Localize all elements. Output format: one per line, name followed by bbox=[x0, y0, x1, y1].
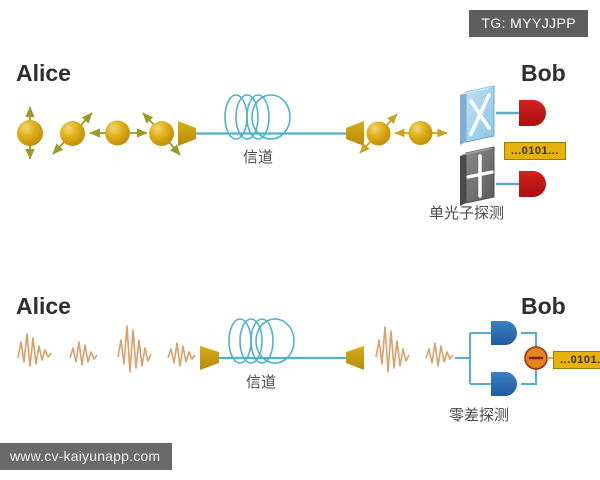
key-bits-dv: ...0101... bbox=[504, 142, 566, 160]
key-bits-cv: ...0101... bbox=[553, 351, 600, 369]
fiber-channel-cv bbox=[219, 319, 346, 363]
homodyne-detector-2[interactable] bbox=[491, 372, 517, 396]
received-wavepacket-group bbox=[376, 327, 453, 372]
subtraction-node bbox=[525, 347, 554, 369]
site-watermark: www.cv-kaiyunapp.com bbox=[0, 443, 172, 470]
polarizer-plus-basis[interactable] bbox=[460, 147, 494, 206]
qkd-illustration bbox=[0, 0, 600, 480]
alice-label-dv: Alice bbox=[16, 60, 71, 87]
alice-label-cv: Alice bbox=[16, 293, 71, 320]
polarizer-x-basis[interactable] bbox=[460, 86, 494, 145]
detection-label-cv: 零差探测 bbox=[449, 404, 509, 425]
bob-collimator-dv bbox=[346, 121, 364, 146]
alice-wavepacket-group bbox=[18, 326, 195, 372]
bob-label-cv: Bob bbox=[521, 293, 566, 320]
wavepacket-1 bbox=[18, 334, 51, 366]
channel-label-cv: 信道 bbox=[246, 371, 276, 392]
received-photon-diagonal bbox=[360, 114, 397, 153]
received-wavepacket-2 bbox=[426, 343, 453, 366]
diagram-canvas: Alice Bob 信道 单光子探测 ...0101... Alice Bob … bbox=[0, 0, 600, 480]
alice-photon-group-dv bbox=[17, 107, 180, 159]
received-photon-group-dv bbox=[360, 114, 447, 153]
cv-qkd-diagram bbox=[18, 319, 554, 396]
photon-antidiagonal bbox=[143, 113, 180, 155]
alice-collimator-cv bbox=[200, 346, 219, 370]
single-photon-detector-2[interactable] bbox=[519, 171, 546, 197]
wavepacket-2 bbox=[70, 342, 97, 365]
homodyne-detector-1[interactable] bbox=[491, 321, 517, 345]
bob-label-dv: Bob bbox=[521, 60, 566, 87]
photon-horizontal bbox=[90, 121, 147, 146]
single-photon-detector-1[interactable] bbox=[519, 100, 546, 126]
photon-vertical bbox=[17, 107, 43, 159]
wavepacket-4 bbox=[168, 343, 195, 366]
dv-qkd-diagram bbox=[17, 86, 546, 206]
photon-diagonal bbox=[53, 113, 92, 154]
detection-label-dv: 单光子探测 bbox=[429, 202, 504, 223]
wavepacket-3 bbox=[118, 326, 151, 372]
received-photon-horizontal bbox=[395, 121, 447, 145]
fiber-channel-dv bbox=[196, 95, 346, 139]
channel-label-dv: 信道 bbox=[243, 146, 273, 167]
tag-badge: TG: MYYJJPP bbox=[469, 10, 588, 37]
alice-collimator-dv bbox=[178, 121, 196, 146]
bob-collimator-cv bbox=[346, 346, 364, 370]
received-wavepacket-1 bbox=[376, 327, 409, 372]
